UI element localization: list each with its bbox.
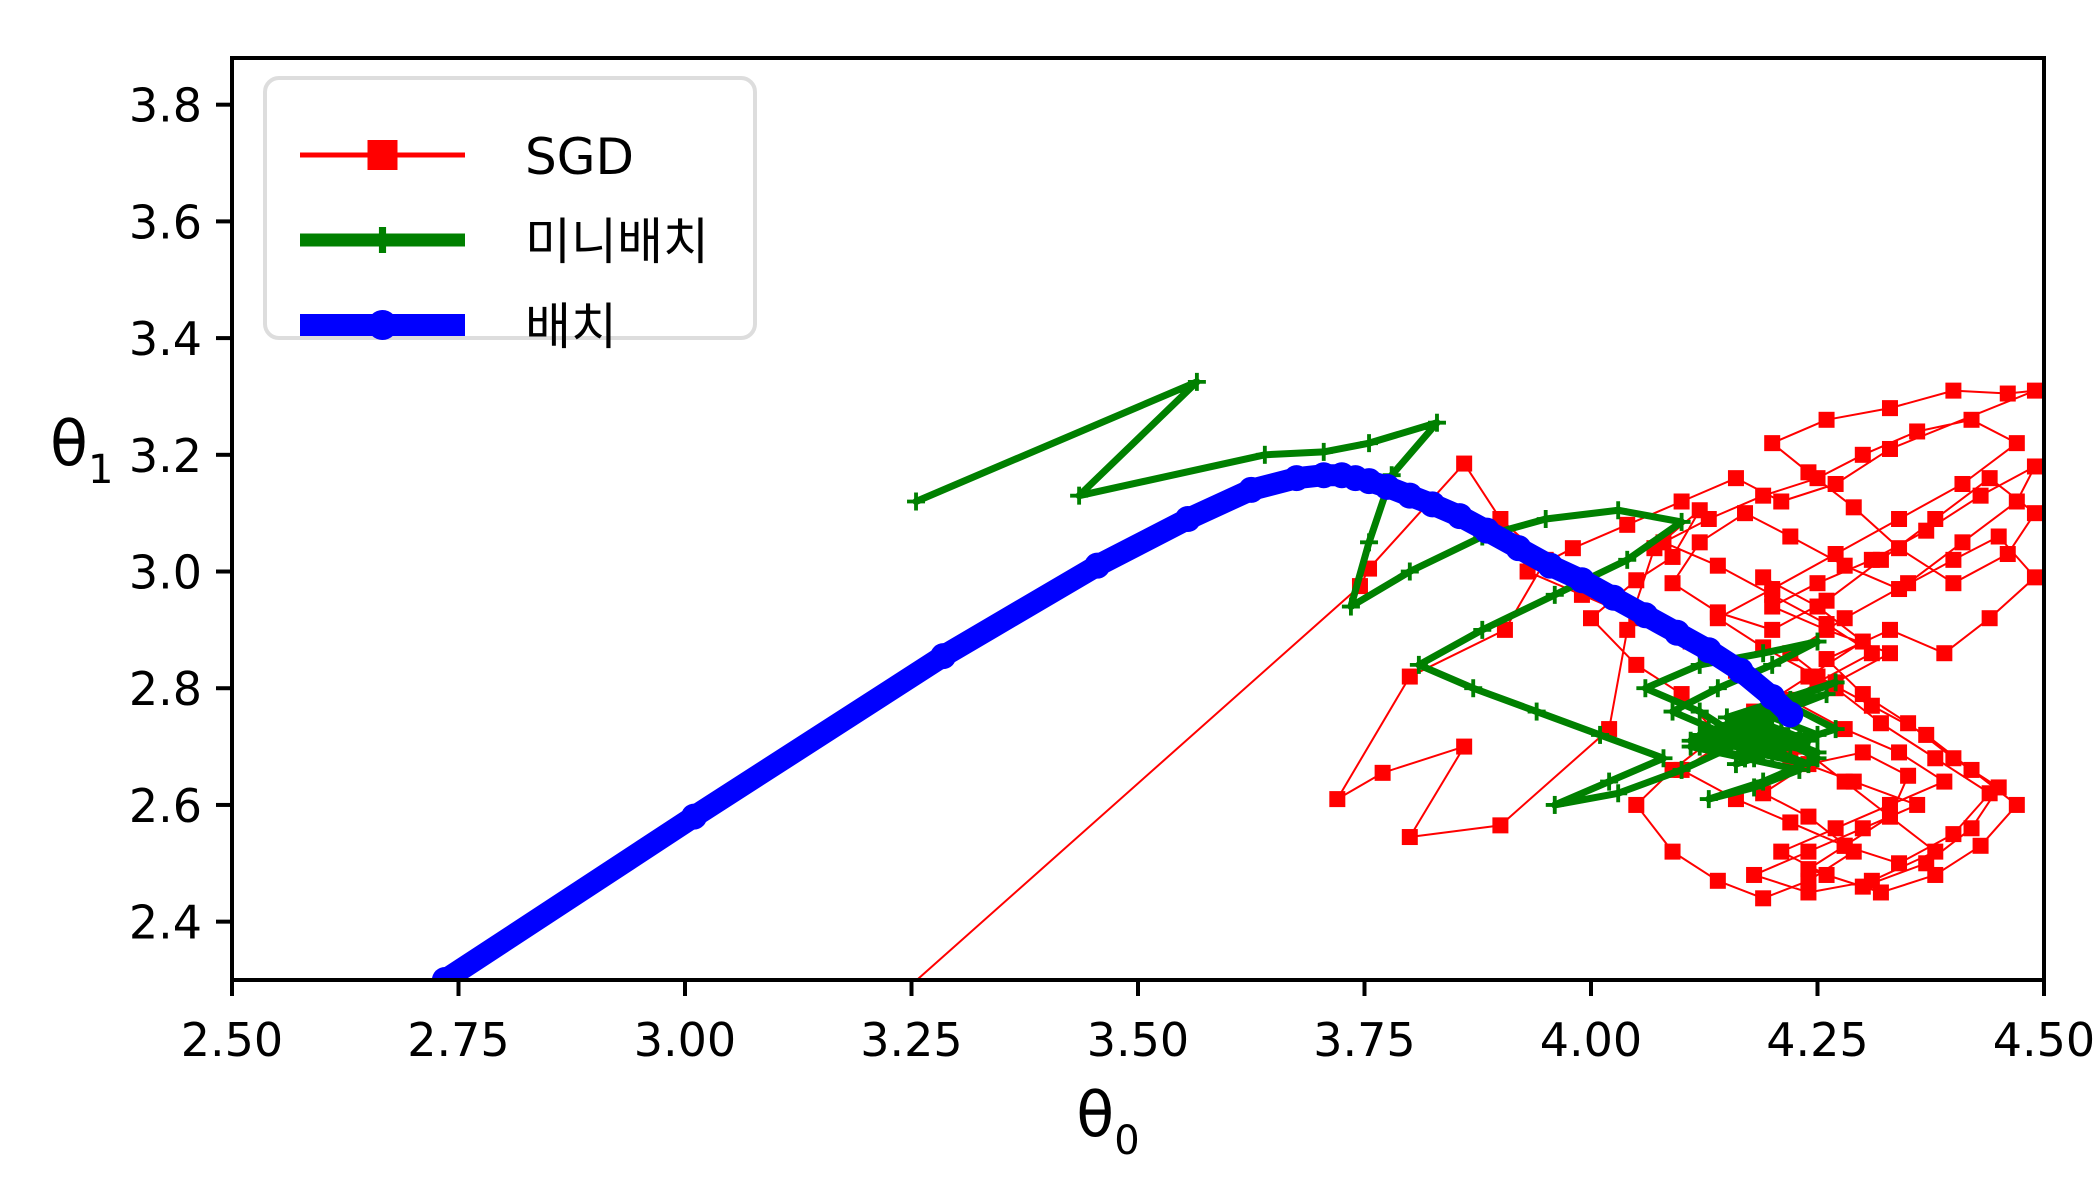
data-marker [1569,567,1595,593]
data-marker [1964,762,1980,778]
data-marker [1954,476,1970,492]
data-marker [1746,867,1762,883]
data-marker [1800,809,1816,825]
data-marker [1628,797,1644,813]
data-marker [1764,599,1780,615]
data-marker [1402,669,1418,685]
data-marker [1692,534,1708,550]
data-marker [1474,518,1500,544]
y-tick-label-3.2: 3.2 [129,429,202,483]
data-marker [1909,797,1925,813]
data-marker [1900,768,1916,784]
data-marker [1628,572,1644,588]
data-marker [2000,386,2016,402]
data-marker [1882,622,1898,638]
data-marker [368,140,398,170]
chart-legend[interactable]: SGD미니배치배치 [265,78,755,356]
data-marker [1800,884,1816,900]
data-marker [1665,549,1681,565]
data-marker [1855,634,1871,650]
data-marker [1773,493,1789,509]
y-tick-label-3.6: 3.6 [129,195,202,249]
data-marker [1819,622,1835,638]
data-marker [1945,826,1961,842]
data-marker [1583,610,1599,626]
legend-background [265,78,755,338]
figure-container: 2.502.753.003.253.503.754.004.254.50 2.4… [0,0,2100,1200]
data-marker [1800,844,1816,860]
data-marker [1764,622,1780,638]
data-marker [1492,817,1508,833]
y-tick-label-3.8: 3.8 [129,79,202,133]
y-axis-title-subscript: 1 [88,447,113,493]
y-tick-label-2.4: 2.4 [129,896,202,950]
x-tick-label-3.25: 3.25 [860,1013,962,1067]
data-marker [1927,844,1943,860]
data-marker [1782,529,1798,545]
data-marker [1238,477,1264,503]
data-marker [1973,838,1989,854]
data-marker [1891,855,1907,871]
data-marker [1864,552,1880,568]
data-marker [1828,820,1844,836]
data-marker [1628,657,1644,673]
data-marker [1837,610,1853,626]
data-marker [1819,867,1835,883]
x-axis-title-base: θ [1076,1078,1114,1151]
data-marker [2027,383,2043,399]
data-marker [1819,412,1835,428]
data-marker [1710,873,1726,889]
data-marker [1810,575,1826,591]
data-marker [1891,540,1907,556]
data-marker [1873,715,1889,731]
optimization-path-chart: 2.502.753.003.253.503.754.004.254.50 2.4… [0,0,2100,1200]
data-marker [1927,867,1943,883]
data-marker [1982,785,1998,801]
data-marker [1727,658,1753,684]
data-marker [1737,505,1753,521]
data-marker [1619,517,1635,533]
data-marker [2000,546,2016,562]
data-marker [1375,765,1391,781]
data-marker [1810,599,1826,615]
y-tick-label-3.4: 3.4 [129,312,202,366]
data-marker [1728,470,1744,486]
data-marker [1882,441,1898,457]
data-marker [1782,814,1798,830]
data-marker [1837,838,1853,854]
data-marker [1900,575,1916,591]
data-marker [1964,412,1980,428]
data-marker [1800,861,1816,877]
data-marker [1506,535,1532,561]
data-marker [1755,890,1771,906]
data-marker [1777,701,1803,727]
data-marker [1855,744,1871,760]
data-marker [2009,493,2025,509]
data-marker [1882,400,1898,416]
data-marker [1891,511,1907,527]
x-tick-label-3.00: 3.00 [634,1013,736,1067]
data-marker [1982,610,1998,626]
y-tick-label-2.6: 2.6 [129,779,202,833]
data-marker [1175,506,1201,532]
data-marker [1773,844,1789,860]
data-marker [1882,809,1898,825]
data-marker [1397,483,1423,509]
data-marker [1565,540,1581,556]
data-marker [1973,488,1989,504]
data-marker [1456,739,1472,755]
x-tick-label-4.00: 4.00 [1540,1013,1642,1067]
data-marker [1665,575,1681,591]
data-marker [1954,534,1970,550]
data-marker [1828,476,1844,492]
data-marker [1900,715,1916,731]
data-marker [1674,493,1690,509]
legend-label-미니배치: 미니배치 [525,213,709,271]
data-marker [2009,435,2025,451]
data-marker [930,643,956,669]
data-marker [1710,610,1726,626]
data-marker [1632,602,1658,628]
data-marker [1456,456,1472,472]
data-marker [1882,645,1898,661]
x-tick-label-4.50: 4.50 [1993,1013,2095,1067]
data-marker [2027,458,2043,474]
data-marker [1329,791,1345,807]
data-marker [1402,829,1418,845]
x-tick-label-2.50: 2.50 [181,1013,283,1067]
data-marker [1828,546,1844,562]
data-marker [2027,505,2043,521]
data-marker [1846,499,1862,515]
data-marker [2009,797,2025,813]
data-marker [1419,491,1445,517]
y-axis-title-base: θ [50,407,88,480]
data-marker [1891,744,1907,760]
data-marker [1447,503,1473,529]
data-marker [2027,569,2043,585]
y-tick-label-2.8: 2.8 [129,662,202,716]
data-marker [1710,558,1726,574]
x-axis-title-subscript: 0 [1114,1118,1139,1164]
data-marker [1837,774,1853,790]
data-marker [1991,529,2007,545]
x-tick-label-2.75: 2.75 [407,1013,509,1067]
x-tick-label-4.25: 4.25 [1766,1013,1868,1067]
data-marker [1701,511,1717,527]
y-tick-label-3.0: 3.0 [129,546,202,600]
data-marker [1800,669,1816,685]
data-marker [1936,774,1952,790]
data-marker [1945,575,1961,591]
data-marker [1819,651,1835,667]
data-marker [1284,465,1310,491]
data-marker [1855,447,1871,463]
data-marker [681,804,707,830]
data-marker [1084,553,1110,579]
data-marker [1374,474,1400,500]
data-marker [1964,820,1980,836]
x-tick-label-3.50: 3.50 [1087,1013,1189,1067]
data-marker [368,310,398,340]
data-marker [1927,750,1943,766]
data-marker [1755,569,1771,585]
data-marker [1864,698,1880,714]
data-marker [1755,488,1771,504]
x-tick-label-3.75: 3.75 [1313,1013,1415,1067]
data-marker [1696,637,1722,663]
data-marker [1764,435,1780,451]
legend-label-SGD: SGD [525,128,634,186]
data-marker [1537,553,1563,579]
data-marker [1936,645,1952,661]
data-marker [1945,383,1961,399]
data-marker [1855,820,1871,836]
data-marker [1665,844,1681,860]
data-marker [1601,585,1627,611]
data-marker [1909,423,1925,439]
data-marker [1945,750,1961,766]
data-marker [1982,470,1998,486]
data-marker [1864,873,1880,889]
data-marker [1810,470,1826,486]
data-marker [1918,727,1934,743]
legend-label-배치: 배치 [525,298,617,356]
data-marker [1918,523,1934,539]
data-marker [1664,620,1690,646]
data-marker [1945,552,1961,568]
